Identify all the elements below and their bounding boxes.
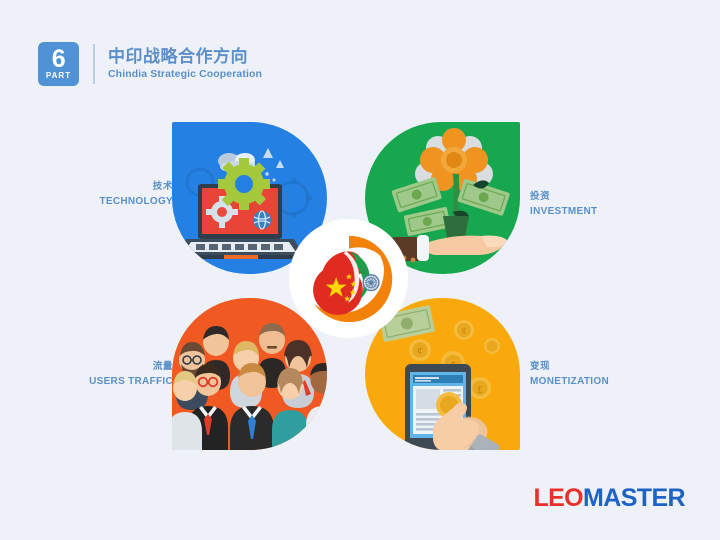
label-investment: 投资 INVESTMENT xyxy=(530,190,670,219)
brand-logo-master: MASTER xyxy=(583,484,685,512)
part-number: 6 xyxy=(52,48,65,70)
china-india-yinyang-flag-icon xyxy=(303,233,395,325)
label-technology-english: TECHNOLOGY xyxy=(48,194,173,209)
center-emblem[interactable] xyxy=(289,219,408,338)
label-monetization-chinese: 变现 xyxy=(530,360,680,374)
page-title-chinese: 中印战略合作方向 xyxy=(108,46,262,67)
label-users-traffic: 流量 USERS TRAFFIC xyxy=(38,360,173,389)
page-title-english: Chindia Strategic Cooperation xyxy=(108,67,262,82)
part-badge: 6 PART xyxy=(38,42,79,86)
part-word-label: PART xyxy=(46,70,71,81)
brand-logo: LEOMASTER xyxy=(533,485,685,511)
open-hand-icon xyxy=(391,235,508,262)
ashoka-chakra-icon xyxy=(363,274,379,290)
label-monetization-english: MONETIZATION xyxy=(530,374,680,389)
label-technology-chinese: 技术 xyxy=(48,180,173,194)
label-investment-english: INVESTMENT xyxy=(530,204,670,219)
svg-text:¢: ¢ xyxy=(418,346,423,357)
svg-text:£: £ xyxy=(478,385,483,396)
brand-logo-leo: LEO xyxy=(533,484,583,512)
globe-icon xyxy=(253,211,271,229)
slide-root: 6 PART 中印战略合作方向 Chindia Strategic Cooper… xyxy=(0,0,720,540)
slide-header: 6 PART 中印战略合作方向 Chindia Strategic Cooper… xyxy=(38,42,262,86)
label-users-traffic-chinese: 流量 xyxy=(38,360,173,374)
header-text-block: 中印战略合作方向 Chindia Strategic Cooperation xyxy=(108,46,262,82)
svg-text:¢: ¢ xyxy=(462,326,467,336)
label-technology: 技术 TECHNOLOGY xyxy=(48,180,173,209)
green-gear-icon xyxy=(218,158,270,210)
header-divider xyxy=(93,44,95,84)
label-investment-chinese: 投资 xyxy=(530,190,670,204)
label-users-traffic-english: USERS TRAFFIC xyxy=(38,374,173,389)
label-monetization: 变现 MONETIZATION xyxy=(530,360,680,389)
